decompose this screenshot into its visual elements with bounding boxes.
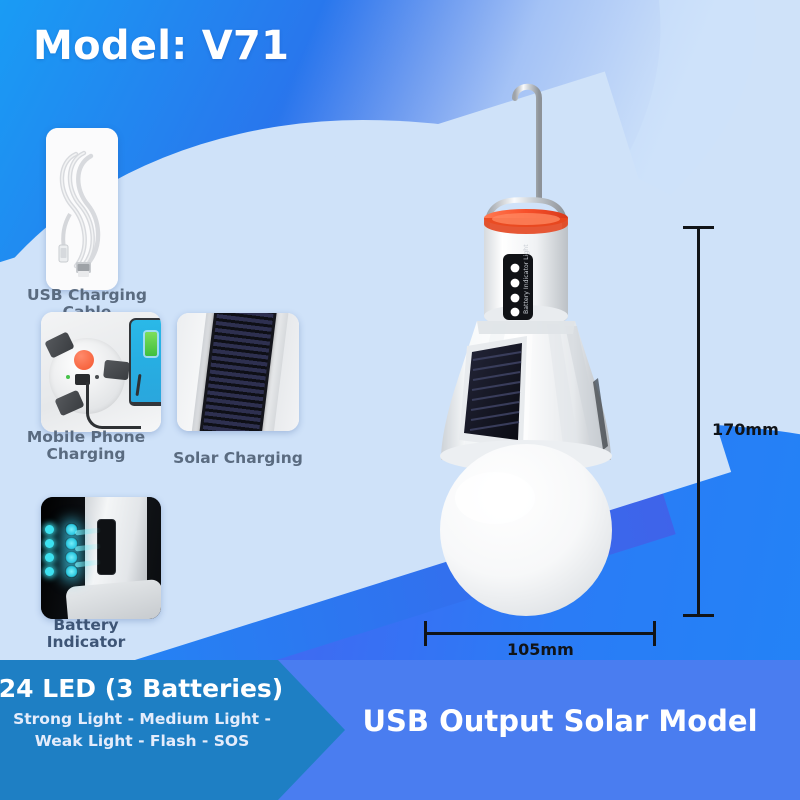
feature-label-line2: Indicator <box>47 633 126 651</box>
globe-diffuser <box>440 444 612 616</box>
feature-label-battery-indicator: Battery Indicator <box>0 617 177 652</box>
battery-indicator-panel: Battery Indicator Light <box>503 244 533 320</box>
feature-label-line1: Solar Charging <box>173 449 303 467</box>
bottom-banner: 24 LED (3 Batteries) Strong Light - Medi… <box>0 660 800 800</box>
feature-card-usb-cable[interactable] <box>46 128 118 290</box>
feature-label-mobile-phone-charging: Mobile Phone Charging <box>0 429 177 464</box>
page-title: Model: V71 <box>33 23 289 69</box>
banner-sub-line1: Strong Light - Medium Light - <box>13 710 271 728</box>
infographic-canvas: Model: V71 USB Charging Cable <box>0 0 800 800</box>
solar-fin-icon <box>103 360 130 381</box>
usb-cable-image <box>46 128 118 290</box>
led-dot-icon <box>45 553 54 562</box>
feature-label-solar-charging: Solar Charging <box>158 450 318 467</box>
banner-left-title: 24 LED (3 Batteries) <box>0 674 286 703</box>
height-dimension-label: 170mm <box>712 420 779 439</box>
width-dimension-cap-left <box>424 621 427 646</box>
width-dimension-label: 105mm <box>507 640 574 659</box>
banner-right-title: USB Output Solar Model <box>330 704 790 738</box>
banner-left-subtitle: Strong Light - Medium Light - Weak Light… <box>6 708 278 752</box>
height-dimension-cap-top <box>683 226 714 229</box>
battery-charging-icon <box>145 332 157 356</box>
banner-sub-line2: Weak Light - Flash - SOS <box>35 732 250 750</box>
product-image-solar-bulb: Battery Indicator Light <box>415 78 665 626</box>
feature-label-line1: USB Charging <box>27 286 147 304</box>
feature-label-line1: Battery <box>53 616 118 634</box>
solar-cell-stripes <box>203 313 274 431</box>
led-dot-icon <box>45 525 54 534</box>
led-dot-icon <box>45 567 54 576</box>
height-dimension-line <box>697 227 700 617</box>
width-dimension-line <box>425 632 655 635</box>
charging-cable-icon <box>86 382 141 429</box>
solar-panel <box>459 336 527 448</box>
feature-card-battery-indicator[interactable] <box>41 497 161 619</box>
led-dot-icon <box>45 539 54 548</box>
status-dot-dark <box>95 375 99 379</box>
feature-label-line2: Charging <box>46 445 125 463</box>
feature-label-line1: Mobile Phone <box>27 428 145 446</box>
feature-card-mobile-phone-charging[interactable] <box>41 312 161 432</box>
width-dimension-cap-right <box>653 621 656 646</box>
feature-card-solar-charging[interactable] <box>177 313 299 431</box>
status-dot-green <box>66 375 70 379</box>
indicator-panel-text: Battery Indicator Light <box>523 244 530 314</box>
height-dimension-cap-bottom <box>683 614 714 617</box>
power-button-icon <box>74 350 94 370</box>
